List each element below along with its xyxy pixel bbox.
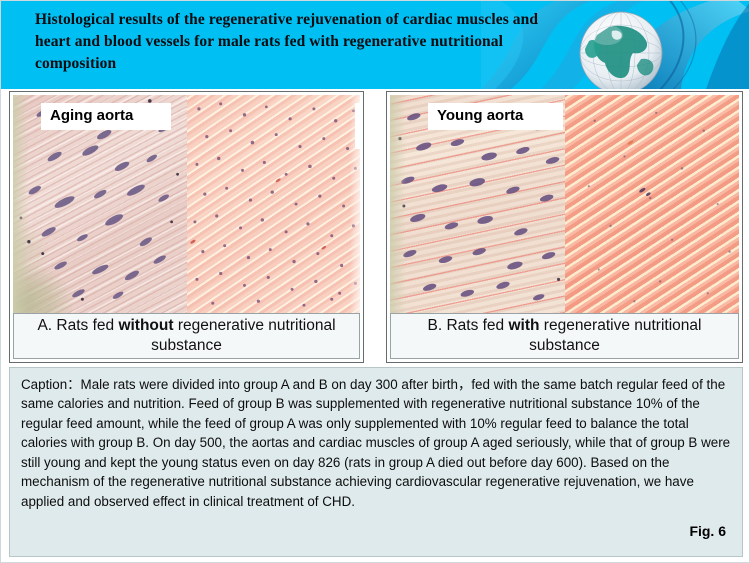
young-aorta-edge-fade bbox=[390, 95, 406, 313]
label-young-aorta: Young aorta bbox=[428, 103, 563, 130]
label-aging-aorta: Aging aorta bbox=[41, 103, 171, 130]
figure-caption-box: Caption：Male rats were divided into grou… bbox=[9, 367, 743, 557]
healthy-muscle-nuclei bbox=[565, 95, 739, 311]
page-title: Histological results of the regenerative… bbox=[35, 9, 555, 75]
figure-caption-text: Caption：Male rats were divided into grou… bbox=[21, 375, 731, 511]
panel-a: Aging aorta bbox=[9, 91, 364, 363]
panel-b-caption: B. Rats fed with regenerative nutritiona… bbox=[390, 313, 739, 359]
fibrotic-cardiac-muscle-micrograph: Fibrotic cardiac muscle bbox=[187, 95, 361, 313]
aging-aorta-micrograph: Aging aorta bbox=[13, 95, 187, 313]
figure-number: Fig. 6 bbox=[689, 523, 726, 539]
panel-b-caption-suffix: regenerative nutritional substance bbox=[529, 317, 701, 354]
slide-root: Histological results of the regenerative… bbox=[0, 0, 750, 563]
panel-b-image-row: Young aorta bbox=[390, 95, 739, 313]
panel-a-image-row: Aging aorta bbox=[13, 95, 360, 313]
young-aorta-micrograph: Young aorta bbox=[390, 95, 565, 313]
panel-b: Young aorta bbox=[386, 91, 743, 363]
label-fibrotic-cardiac-muscle: Fibrotic cardiac muscle bbox=[355, 103, 361, 149]
healthy-cardiac-muscle-micrograph: Cardiac muscle without fibrosis bbox=[565, 95, 740, 313]
panel-a-caption-prefix: A. Rats fed bbox=[37, 317, 118, 334]
slide-header: Histological results of the regenerative… bbox=[1, 1, 750, 89]
panel-b-caption-emphasis: with bbox=[508, 317, 539, 334]
panel-b-caption-prefix: B. Rats fed bbox=[428, 317, 509, 334]
fibrotic-nuclei bbox=[187, 95, 360, 311]
panel-a-caption-suffix: regenerative nutritional substance bbox=[151, 317, 335, 354]
panel-a-caption-emphasis: without bbox=[118, 317, 173, 334]
panel-a-caption: A. Rats fed without regenerative nutriti… bbox=[13, 313, 360, 359]
aging-aorta-edge-fade bbox=[13, 95, 29, 313]
